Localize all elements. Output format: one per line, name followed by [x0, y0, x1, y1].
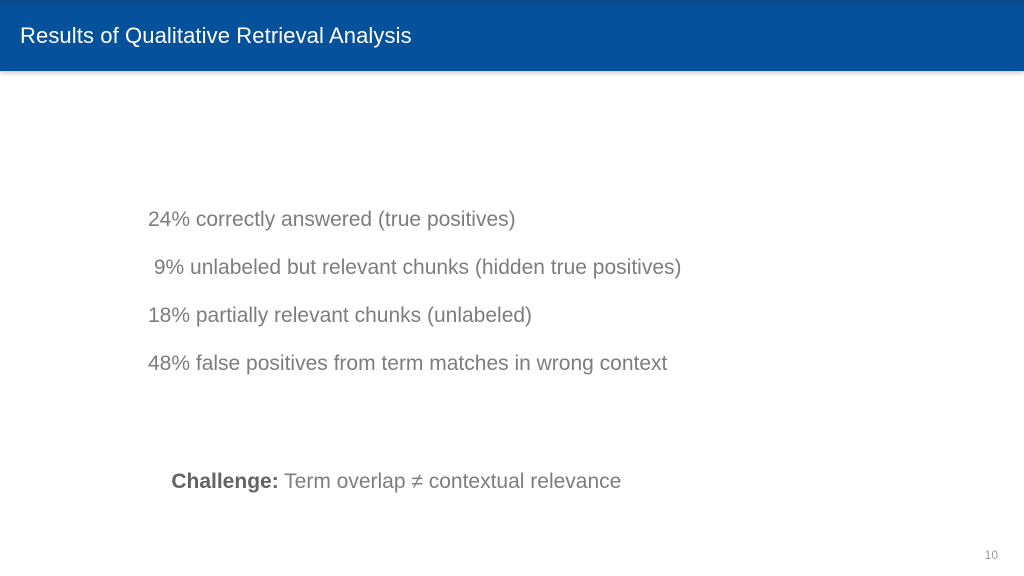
slide-header-bar: Results of Qualitative Retrieval Analysi… [0, 0, 1024, 71]
page-title: Results of Qualitative Retrieval Analysi… [20, 23, 412, 49]
challenge-text: Term overlap ≠ contextual relevance [279, 470, 622, 493]
stat-line-true-positives: 24% correctly answered (true positives) [148, 196, 968, 244]
stat-line-partially-relevant: 18% partially relevant chunks (unlabeled… [148, 292, 968, 340]
stat-line-false-positives: 48% false positives from term matches in… [148, 340, 968, 388]
challenge-label: Challenge: [171, 470, 278, 493]
page-number: 10 [985, 548, 998, 562]
stat-line-hidden-true-positives: 9% unlabeled but relevant chunks (hidden… [148, 244, 968, 292]
challenge-statement: Challenge: Term overlap ≠ contextual rel… [148, 440, 621, 524]
slide-root: Results of Qualitative Retrieval Analysi… [0, 0, 1024, 576]
header-top-accent-strip [0, 0, 1024, 4]
slide-body-content: 24% correctly answered (true positives) … [148, 196, 968, 388]
